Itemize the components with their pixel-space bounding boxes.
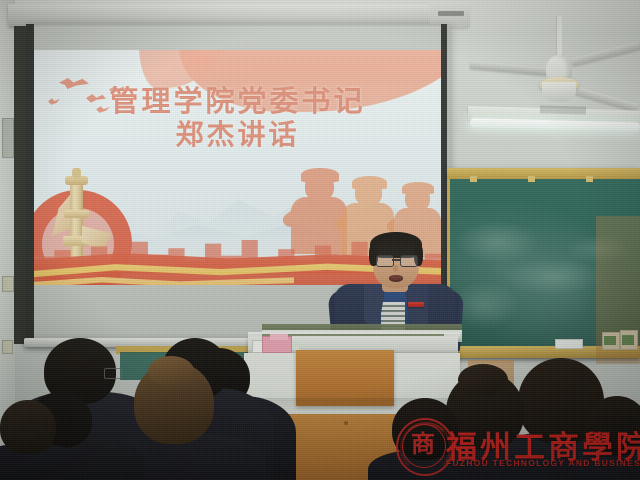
lapel-badge: [408, 302, 424, 307]
fixture-label: [540, 105, 586, 114]
projector-screen-housing: [8, 4, 468, 26]
audience-member: [0, 400, 70, 480]
hair-bun: [148, 356, 194, 386]
slide-title-line2: 郑杰讲话: [34, 118, 441, 151]
column-finial-graphic: [72, 168, 81, 178]
hair-bun: [458, 364, 508, 396]
seal-character: 商: [408, 428, 438, 460]
watermark-english-name: FUZHOU TECHNOLOGY AND BUSINESS UNIVERSIT…: [446, 458, 640, 468]
chalkboard-clip: [470, 176, 477, 182]
eyeglasses-icon: [376, 255, 394, 267]
wall-outlet: [2, 340, 13, 354]
fan-mount-rod: [556, 16, 562, 58]
screen-left-border: [26, 24, 34, 344]
slide-title-line1: 管理学院党委书记: [34, 84, 441, 118]
wall-cabinet: [596, 216, 640, 364]
university-watermark: 商 福州工商學院 FUZHOU TECHNOLOGY AND BUSINESS …: [396, 414, 640, 476]
chalkboard-clip: [586, 176, 593, 182]
fan-bell-housing: [542, 82, 576, 102]
eyeglasses-bridge: [392, 259, 400, 261]
speaker-nose: [393, 265, 398, 272]
photo-screenshot: 管理学院党委书记 郑杰讲话: [0, 0, 640, 480]
screen-housing-label: [438, 11, 464, 16]
chalkboard-clip: [528, 176, 535, 182]
wall-outlet: [2, 118, 14, 158]
column-band-graphic: [64, 210, 89, 218]
wall-outlet: [2, 276, 14, 292]
desk-item: [292, 341, 299, 350]
blackboard-eraser-icon: [555, 339, 583, 349]
speaker-eyebrow: [377, 251, 391, 254]
slide-title: 管理学院党委书记 郑杰讲话: [34, 84, 441, 151]
board-left-edge: [14, 26, 26, 344]
eyeglasses-icon: [400, 255, 418, 267]
speaker-mouth: [389, 275, 403, 282]
pink-box-lid: [270, 334, 288, 340]
speaker-eyebrow: [401, 251, 415, 254]
podium-knob: [344, 421, 348, 425]
